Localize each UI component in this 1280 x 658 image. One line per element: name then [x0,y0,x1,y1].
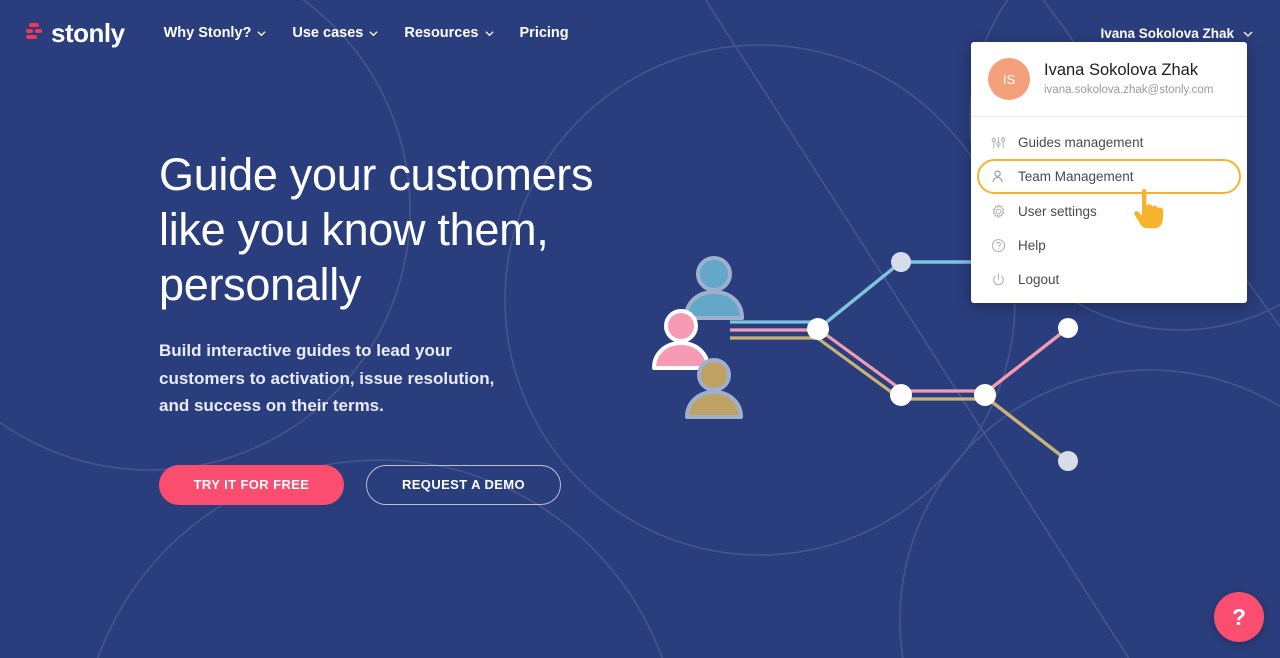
account-identity: Ivana Sokolova Zhak ivana.sokolova.zhak@… [1044,60,1213,99]
person-blue-icon [686,258,742,318]
menu-item-help[interactable]: Help [977,228,1241,262]
nav-item-pricing[interactable]: Pricing [507,25,582,41]
nav-item-resources[interactable]: Resources [391,25,506,41]
menu-item-label: User settings [1018,204,1097,219]
gear-icon [990,203,1006,219]
menu-item-guides-management[interactable]: Guides management [977,125,1241,159]
page-title: Guide your customers like you know them,… [159,147,679,312]
nav-item-label: Use cases [292,25,363,41]
avatar: IS [988,58,1030,100]
hero-subtitle: Build interactive guides to lead your cu… [159,337,519,420]
try-it-for-free-button[interactable]: TRY IT FOR FREE [159,465,344,505]
power-icon [990,271,1006,287]
page-root: stonly Why Stonly? Use cases Resources P… [0,0,1280,658]
hero-title-line-3: personally [159,259,361,310]
hero-cta-group: TRY IT FOR FREE REQUEST A DEMO [159,465,679,505]
nav-item-why-stonly[interactable]: Why Stonly? [151,25,280,41]
question-circle-icon [990,237,1006,253]
account-header: IS Ivana Sokolova Zhak ivana.sokolova.zh… [971,42,1247,117]
account-name: Ivana Sokolova Zhak [1044,60,1213,80]
hero-section: Guide your customers like you know them,… [159,147,679,505]
account-dropdown-menu: IS Ivana Sokolova Zhak ivana.sokolova.zh… [971,42,1247,303]
chevron-down-icon [485,29,494,38]
person-icon [990,169,1006,185]
account-email: ivana.sokolova.zhak@stonly.com [1044,82,1213,99]
nav-item-label: Why Stonly? [164,25,252,41]
chevron-down-icon [1243,29,1252,38]
hero-title-line-2: like you know them, [159,204,548,255]
request-a-demo-button[interactable]: REQUEST A DEMO [366,465,561,505]
hero-title-line-1: Guide your customers [159,149,593,200]
logo-text: stonly [51,20,125,46]
nav-item-label: Resources [404,25,478,41]
menu-item-label: Guides management [1018,135,1143,150]
menu-item-team-management[interactable]: Team Management [977,159,1241,194]
account-menu-trigger[interactable]: Ivana Sokolova Zhak [1100,26,1256,41]
nav-item-label: Pricing [520,25,569,41]
menu-item-label: Team Management [1018,169,1134,184]
chevron-down-icon [257,29,266,38]
help-bubble-button[interactable]: ? [1214,592,1264,642]
logo[interactable]: stonly [24,20,125,46]
menu-item-label: Logout [1018,272,1059,287]
sliders-icon [990,134,1006,150]
account-menu-list: Guides management Team Management [971,117,1247,296]
menu-item-logout[interactable]: Logout [977,262,1241,296]
menu-item-user-settings[interactable]: User settings [977,194,1241,228]
menu-item-label: Help [1018,238,1046,253]
account-trigger-label: Ivana Sokolova Zhak [1100,26,1234,41]
stonly-stacked-bars-icon [24,22,44,44]
chevron-down-icon [369,29,378,38]
nav-item-use-cases[interactable]: Use cases [279,25,391,41]
